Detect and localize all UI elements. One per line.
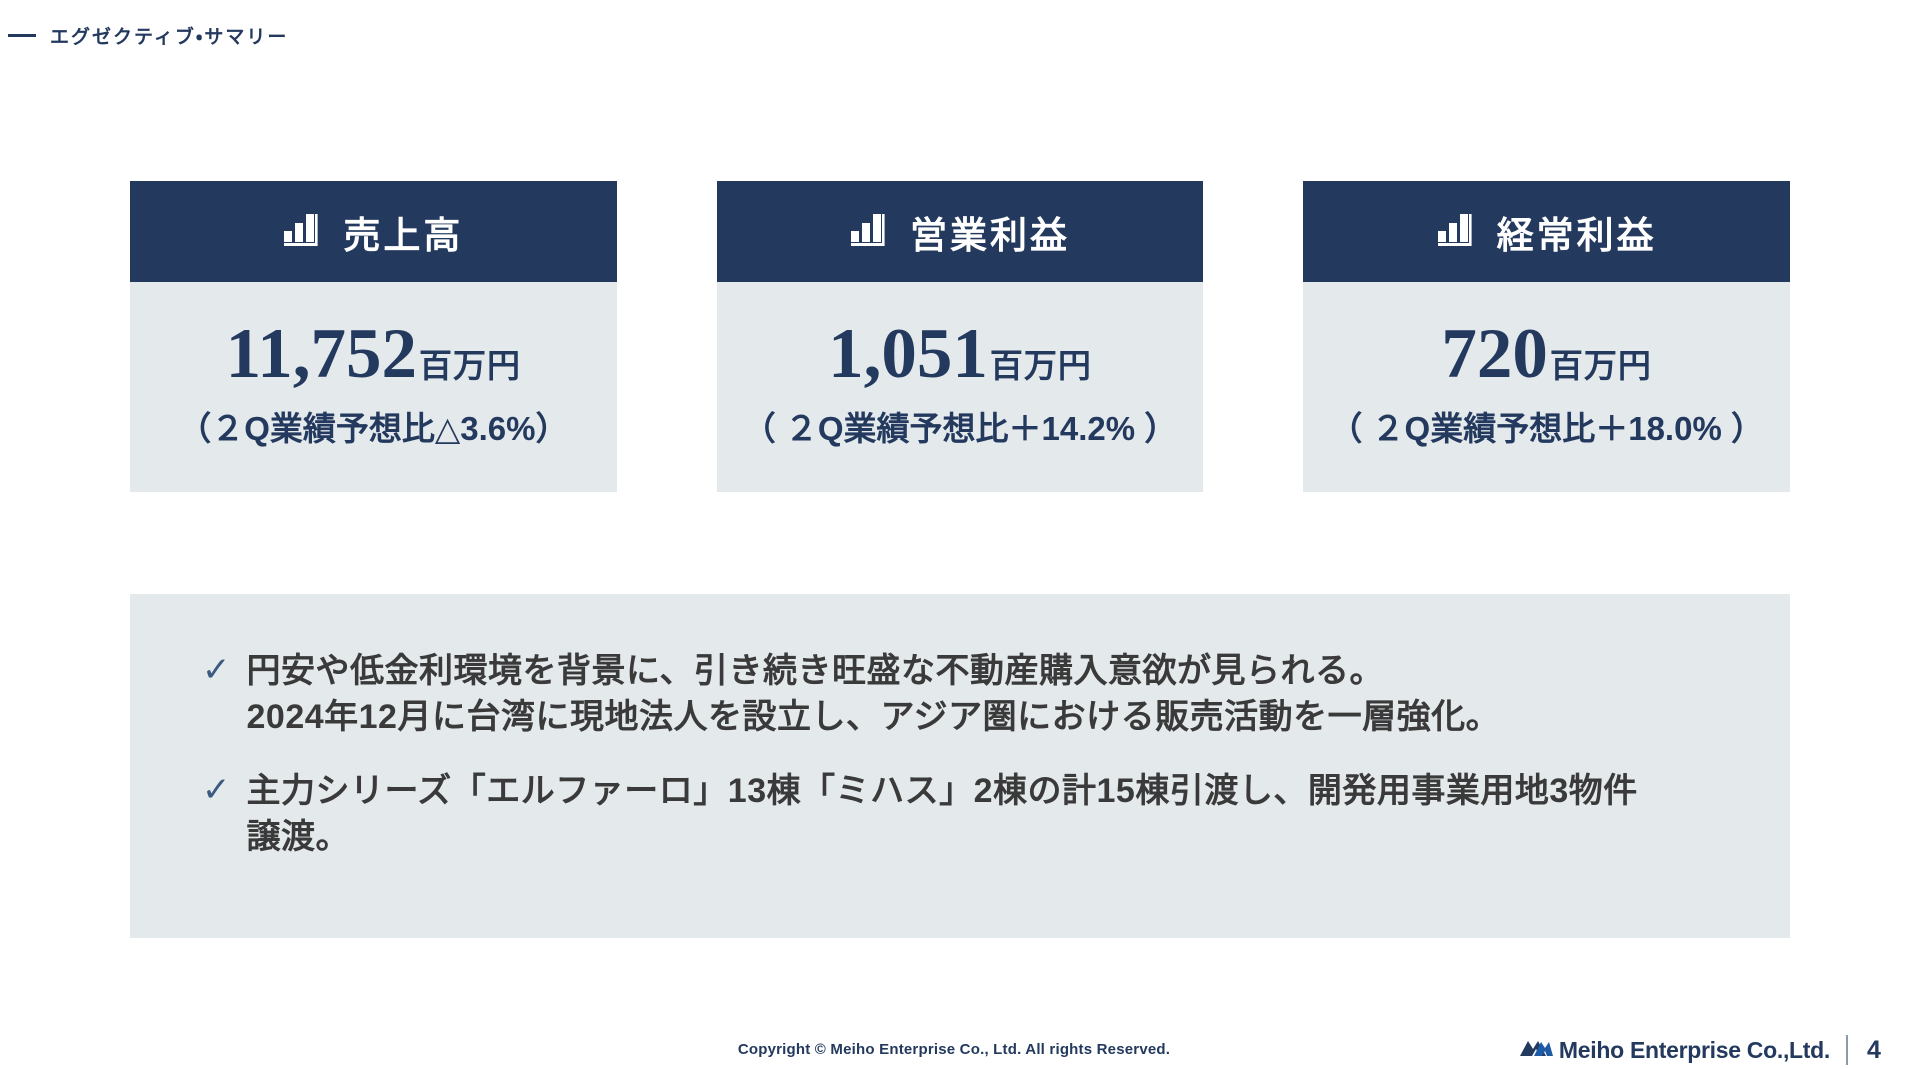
kpi-card-body: 1,051 百万円 （ ２Q業績予想比＋14.2% ） (717, 282, 1204, 492)
kpi-card-header: 経常利益 (1303, 181, 1790, 282)
kpi-comparison: （ ２Q業績予想比＋18.0% ） (1329, 402, 1764, 450)
footer-brand: Meiho Enterprise Co.,Ltd. 4 (1519, 1035, 1884, 1065)
kpi-comparison: （２Q業績予想比△3.6%） (178, 402, 568, 450)
kpi-value-row: 720 百万円 (1441, 319, 1652, 390)
kpi-card-group: 売上高 11,752 百万円 （２Q業績予想比△3.6%） 営業利益 (130, 181, 1790, 492)
kpi-unit: 百万円 (419, 339, 521, 387)
page-number: 4 (1864, 1036, 1884, 1065)
kpi-card-title: 営業利益 (910, 205, 1070, 259)
slide-header: エグゼクティブ・サマリー (0, 22, 288, 49)
page-title: エグゼクティブ・サマリー (50, 22, 288, 49)
highlight-text: 円安や低金利環境を背景に、引き続き旺盛な不動産購入意欲が見られる。 2024年1… (247, 648, 1501, 740)
list-item: ✓ 円安や低金利環境を背景に、引き続き旺盛な不動産購入意欲が見られる。 2024… (202, 648, 1730, 740)
footer-divider (1846, 1035, 1848, 1065)
kpi-card-body: 11,752 百万円 （２Q業績予想比△3.6%） (130, 282, 617, 492)
highlights-panel: ✓ 円安や低金利環境を背景に、引き続き旺盛な不動産購入意欲が見られる。 2024… (130, 594, 1790, 938)
bar-chart-icon (1437, 212, 1473, 251)
list-item: ✓ 主力シリーズ「エルファーロ」13棟「ミハス」2棟の計15棟引渡し、開発用事業… (202, 768, 1730, 860)
kpi-value: 1,051 (828, 319, 988, 390)
kpi-value: 720 (1441, 319, 1548, 390)
kpi-card-ordinary-profit: 経常利益 720 百万円 （ ２Q業績予想比＋18.0% ） (1303, 181, 1790, 492)
highlight-text: 主力シリーズ「エルファーロ」13棟「ミハス」2棟の計15棟引渡し、開発用事業用地… (247, 768, 1638, 860)
check-mark-icon: ✓ (202, 768, 231, 812)
bar-chart-icon (850, 212, 886, 251)
kpi-unit: 百万円 (1550, 339, 1652, 387)
check-mark-icon: ✓ (202, 648, 231, 692)
kpi-card-body: 720 百万円 （ ２Q業績予想比＋18.0% ） (1303, 282, 1790, 492)
kpi-value-row: 1,051 百万円 (828, 319, 1092, 390)
meiho-m-logo-icon (1519, 1036, 1553, 1065)
kpi-card-title: 売上高 (343, 205, 463, 259)
kpi-card-title: 経常利益 (1497, 205, 1657, 259)
kpi-value-row: 11,752 百万円 (226, 319, 521, 390)
kpi-card-operating-profit: 営業利益 1,051 百万円 （ ２Q業績予想比＋14.2% ） (717, 181, 1204, 492)
kpi-comparison: （ ２Q業績予想比＋14.2% ） (743, 402, 1178, 450)
bar-chart-icon (283, 212, 319, 251)
kpi-value: 11,752 (226, 319, 417, 390)
kpi-card-net-sales: 売上高 11,752 百万円 （２Q業績予想比△3.6%） (130, 181, 617, 492)
horizontal-rule-icon (8, 34, 36, 37)
brand-name: Meiho Enterprise Co.,Ltd. (1559, 1037, 1830, 1064)
brand-lockup: Meiho Enterprise Co.,Ltd. (1519, 1036, 1830, 1065)
kpi-card-header: 営業利益 (717, 181, 1204, 282)
kpi-card-header: 売上高 (130, 181, 617, 282)
kpi-unit: 百万円 (990, 339, 1092, 387)
